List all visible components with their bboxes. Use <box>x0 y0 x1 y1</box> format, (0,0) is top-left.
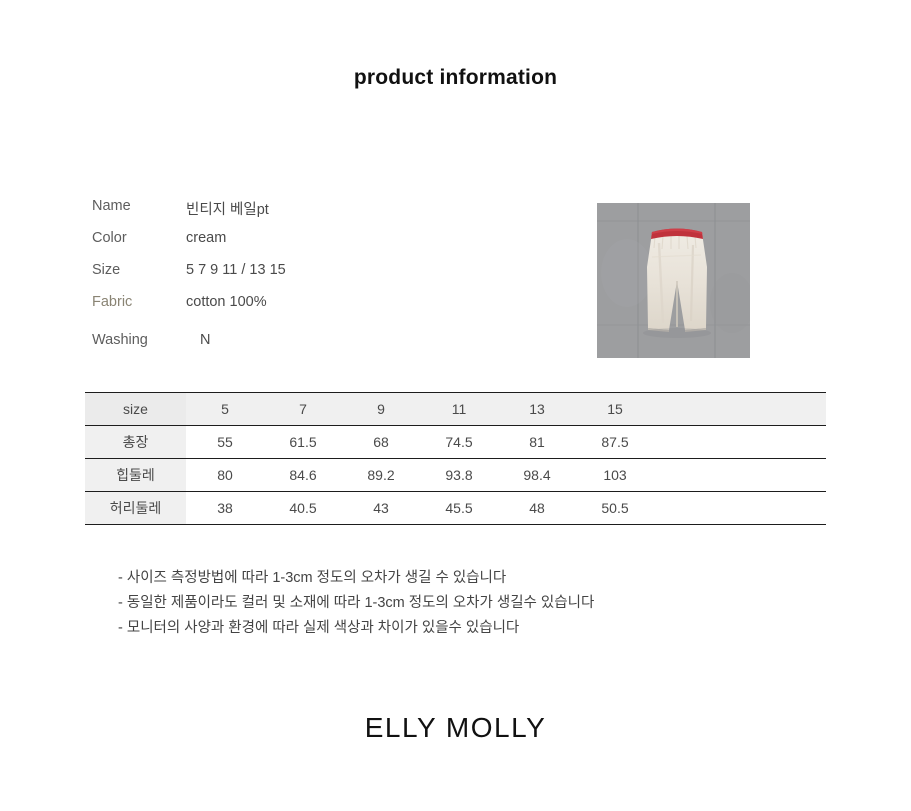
note-line-3: - 모니터의 사양과 환경에 따라 실제 색상과 차이가 있을수 있습니다 <box>118 616 594 641</box>
row-label-hip: 힙둘레 <box>85 459 186 492</box>
header-cell-11: 11 <box>420 393 498 426</box>
info-label-fabric: Fabric <box>92 294 186 310</box>
cell-total-length-5: 55 <box>186 426 264 459</box>
row-label-waist: 허리둘레 <box>85 492 186 525</box>
header-cell-9: 9 <box>342 393 420 426</box>
info-value-name: 빈티지 베일pt <box>186 198 269 219</box>
note-line-1: - 사이즈 측정방법에 따라 1-3cm 정도의 오차가 생길 수 있습니다 <box>118 566 594 591</box>
brand-footer: ELLY MOLLY <box>0 712 911 744</box>
header-cell-5: 5 <box>186 393 264 426</box>
cell-waist-15: 50.5 <box>576 492 654 525</box>
table-row: 허리둘레 38 40.5 43 45.5 48 50.5 <box>85 492 826 525</box>
cell-waist-empty <box>654 492 826 525</box>
header-cell-13: 13 <box>498 393 576 426</box>
row-label-total-length: 총장 <box>85 426 186 459</box>
cell-total-length-7: 61.5 <box>264 426 342 459</box>
cell-hip-11: 93.8 <box>420 459 498 492</box>
cell-hip-13: 98.4 <box>498 459 576 492</box>
info-value-washing: N <box>186 332 210 348</box>
product-photo-image <box>597 203 750 358</box>
header-cell-empty <box>654 393 826 426</box>
info-row-fabric: Fabric cotton 100% <box>92 294 562 326</box>
cell-hip-9: 89.2 <box>342 459 420 492</box>
info-label-washing: Washing <box>92 332 186 348</box>
info-value-size: 5 7 9 11 / 13 15 <box>186 262 286 278</box>
info-value-color: cream <box>186 230 226 246</box>
info-label-color: Color <box>92 230 186 246</box>
info-row-color: Color cream <box>92 230 562 262</box>
header-cell-7: 7 <box>264 393 342 426</box>
size-chart-table: size 5 7 9 11 13 15 총장 55 61.5 68 74.5 8… <box>85 392 826 525</box>
cell-hip-empty <box>654 459 826 492</box>
note-line-2: - 동일한 제품이라도 컬러 및 소재에 따라 1-3cm 정도의 오차가 생길… <box>118 591 594 616</box>
cell-waist-7: 40.5 <box>264 492 342 525</box>
cell-total-length-13: 81 <box>498 426 576 459</box>
info-label-name: Name <box>92 198 186 214</box>
disclaimer-notes: - 사이즈 측정방법에 따라 1-3cm 정도의 오차가 생길 수 있습니다 -… <box>118 566 594 641</box>
cell-total-length-11: 74.5 <box>420 426 498 459</box>
cell-total-length-9: 68 <box>342 426 420 459</box>
header-cell-size: size <box>85 393 186 426</box>
info-row-size: Size 5 7 9 11 / 13 15 <box>92 262 562 294</box>
page-title: product information <box>0 66 911 90</box>
cell-waist-11: 45.5 <box>420 492 498 525</box>
cell-waist-9: 43 <box>342 492 420 525</box>
size-chart-header-row: size 5 7 9 11 13 15 <box>85 393 826 426</box>
cell-waist-13: 48 <box>498 492 576 525</box>
cell-total-length-15: 87.5 <box>576 426 654 459</box>
cell-hip-7: 84.6 <box>264 459 342 492</box>
info-value-fabric: cotton 100% <box>186 294 267 310</box>
info-label-size: Size <box>92 262 186 278</box>
cell-waist-5: 38 <box>186 492 264 525</box>
cell-hip-15: 103 <box>576 459 654 492</box>
cell-total-length-empty <box>654 426 826 459</box>
cell-hip-5: 80 <box>186 459 264 492</box>
table-row: 총장 55 61.5 68 74.5 81 87.5 <box>85 426 826 459</box>
header-cell-15: 15 <box>576 393 654 426</box>
product-photo <box>597 203 750 358</box>
info-row-name: Name 빈티지 베일pt <box>92 198 562 230</box>
table-row: 힙둘레 80 84.6 89.2 93.8 98.4 103 <box>85 459 826 492</box>
product-info-list: Name 빈티지 베일pt Color cream Size 5 7 9 11 … <box>92 198 562 364</box>
info-row-washing: Washing N <box>92 332 562 364</box>
